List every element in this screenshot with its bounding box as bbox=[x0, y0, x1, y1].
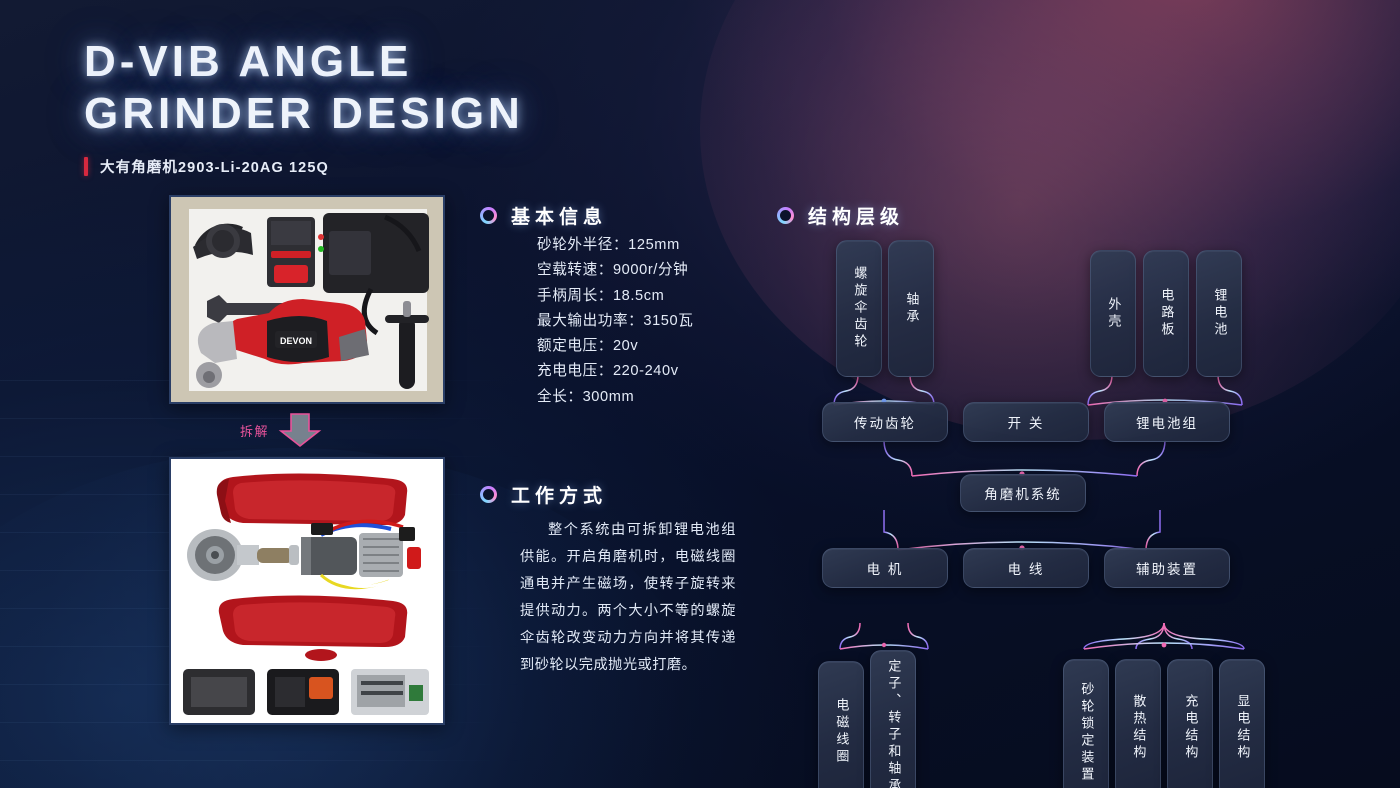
structure-diagram: 螺旋伞齿轮 轴承 外壳 电路板 锂电池 传动齿轮 开 关 锂电池组 角磨机系统 … bbox=[760, 225, 1320, 755]
working-method-title: 工作方式 bbox=[511, 481, 607, 508]
exploded-view-photo bbox=[169, 457, 445, 725]
slide-canvas: D-VIB ANGLE GRINDER DESIGN 大有角磨机2903-Li-… bbox=[0, 0, 1400, 788]
node-power-indicator-structure[interactable]: 显电结构 bbox=[1219, 659, 1265, 788]
node-motor[interactable]: 电 机 bbox=[822, 548, 948, 588]
node-electromagnetic-coil[interactable]: 电磁线圈 bbox=[818, 661, 864, 788]
disassemble-label: 拆解 bbox=[240, 421, 269, 440]
spec-item: 充电电压：220-240v bbox=[537, 359, 693, 384]
node-auxiliary-device[interactable]: 辅助装置 bbox=[1104, 548, 1230, 588]
title-line-2: GRINDER DESIGN bbox=[84, 88, 704, 140]
ring-marker-icon bbox=[480, 486, 497, 503]
section-heading-basic-info: 基本信息 bbox=[480, 202, 607, 229]
spec-item: 手柄周长：18.5cm bbox=[537, 284, 693, 309]
svg-text:DEVON: DEVON bbox=[280, 336, 312, 346]
node-transmission-gear[interactable]: 传动齿轮 bbox=[822, 402, 948, 442]
node-stator-rotor-bearing[interactable]: 定子、转子和轴承 bbox=[870, 650, 916, 788]
node-housing[interactable]: 外壳 bbox=[1090, 250, 1136, 377]
node-charging-structure[interactable]: 充电结构 bbox=[1167, 659, 1213, 788]
product-kit-photo: DEVON bbox=[169, 195, 445, 404]
ring-marker-icon bbox=[777, 207, 794, 224]
basic-info-title: 基本信息 bbox=[511, 202, 607, 229]
subtitle-accent-bar bbox=[84, 157, 88, 176]
node-circuit-board[interactable]: 电路板 bbox=[1143, 250, 1189, 377]
node-bearing[interactable]: 轴承 bbox=[888, 240, 934, 377]
subtitle: 大有角磨机2903-Li-20AG 125Q bbox=[84, 156, 704, 177]
spec-item: 空载转速：9000r/分钟 bbox=[537, 258, 693, 283]
node-cooling-structure[interactable]: 散热结构 bbox=[1115, 659, 1161, 788]
spec-item: 全长：300mm bbox=[537, 385, 693, 410]
node-spiral-bevel-gear[interactable]: 螺旋伞齿轮 bbox=[836, 240, 882, 377]
node-wheel-lock-device[interactable]: 砂轮锁定装置 bbox=[1063, 659, 1109, 788]
spec-item: 最大输出功率：3150瓦 bbox=[537, 309, 693, 334]
ring-marker-icon bbox=[480, 207, 497, 224]
node-switch[interactable]: 开 关 bbox=[963, 402, 1089, 442]
spec-list: 砂轮外半径：125mm 空载转速：9000r/分钟 手柄周长：18.5cm 最大… bbox=[537, 233, 693, 410]
node-lithium-cell[interactable]: 锂电池 bbox=[1196, 250, 1242, 377]
spec-item: 额定电压：20v bbox=[537, 334, 693, 359]
section-heading-working-method: 工作方式 bbox=[480, 481, 607, 508]
working-method-paragraph: 整个系统由可拆卸锂电池组供能。开启角磨机时，电磁线圈通电并产生磁场，使转子旋转来… bbox=[520, 517, 736, 679]
node-angle-grinder-system[interactable]: 角磨机系统 bbox=[960, 474, 1086, 512]
node-battery-pack[interactable]: 锂电池组 bbox=[1104, 402, 1230, 442]
subtitle-text: 大有角磨机2903-Li-20AG 125Q bbox=[100, 156, 329, 177]
title-line-1: D-VIB ANGLE bbox=[84, 36, 704, 88]
page-title: D-VIB ANGLE GRINDER DESIGN 大有角磨机2903-Li-… bbox=[84, 36, 704, 177]
disassemble-indicator: 拆解 bbox=[240, 412, 322, 448]
node-wire[interactable]: 电 线 bbox=[963, 548, 1089, 588]
spec-item: 砂轮外半径：125mm bbox=[537, 233, 693, 258]
down-arrow-icon bbox=[278, 412, 322, 448]
